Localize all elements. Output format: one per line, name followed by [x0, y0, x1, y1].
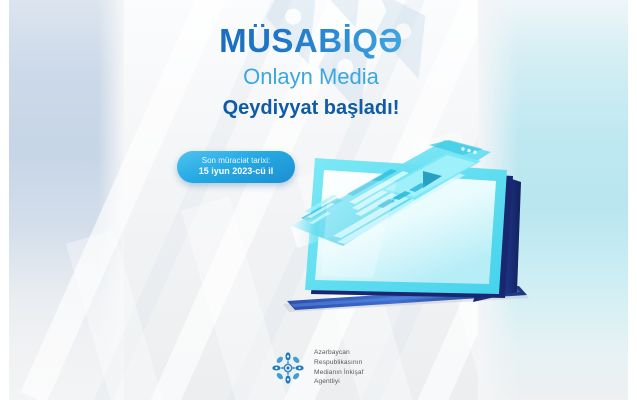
window-dot [461, 147, 464, 150]
poster-canvas: MÜSABİQƏ Onlayn Media Qeydiyyat başladı!… [9, 0, 628, 400]
headline-block: MÜSABİQƏ Onlayn Media Qeydiyyat başladı! [161, 24, 461, 121]
org-line-3: Medianın İnkişaf [314, 368, 364, 378]
organization-name: Azərbaycan Respublikasının Medianın İnki… [314, 348, 364, 387]
deadline-date: 15 iyun 2023-cü il [199, 166, 274, 178]
footer-logo: Azərbaycan Respublikasının Medianın İnki… [271, 348, 364, 387]
org-line-2: Respublikasının [314, 358, 364, 368]
title-subtitle: Onlayn Media [161, 63, 461, 91]
deadline-badge: Son müraciət tarixi: 15 iyun 2023-cü il [177, 151, 295, 183]
deadline-label: Son müraciət tarixi: [202, 156, 270, 166]
media-agency-floral-logo-icon [271, 351, 305, 385]
window-dot [473, 151, 476, 154]
org-line-1: Azərbaycan [314, 348, 364, 358]
org-line-4: Agentliyi [314, 377, 364, 387]
letterbox-left [0, 0, 9, 400]
letterbox-right [628, 0, 637, 400]
title-cta: Qeydiyyat başladı! [161, 96, 461, 121]
title-main: MÜSABİQƏ [161, 24, 461, 59]
window-dot [467, 149, 470, 152]
promo-banner: MÜSABİQƏ Onlayn Media Qeydiyyat başladı!… [0, 0, 637, 400]
laptop-illustration [277, 118, 537, 333]
